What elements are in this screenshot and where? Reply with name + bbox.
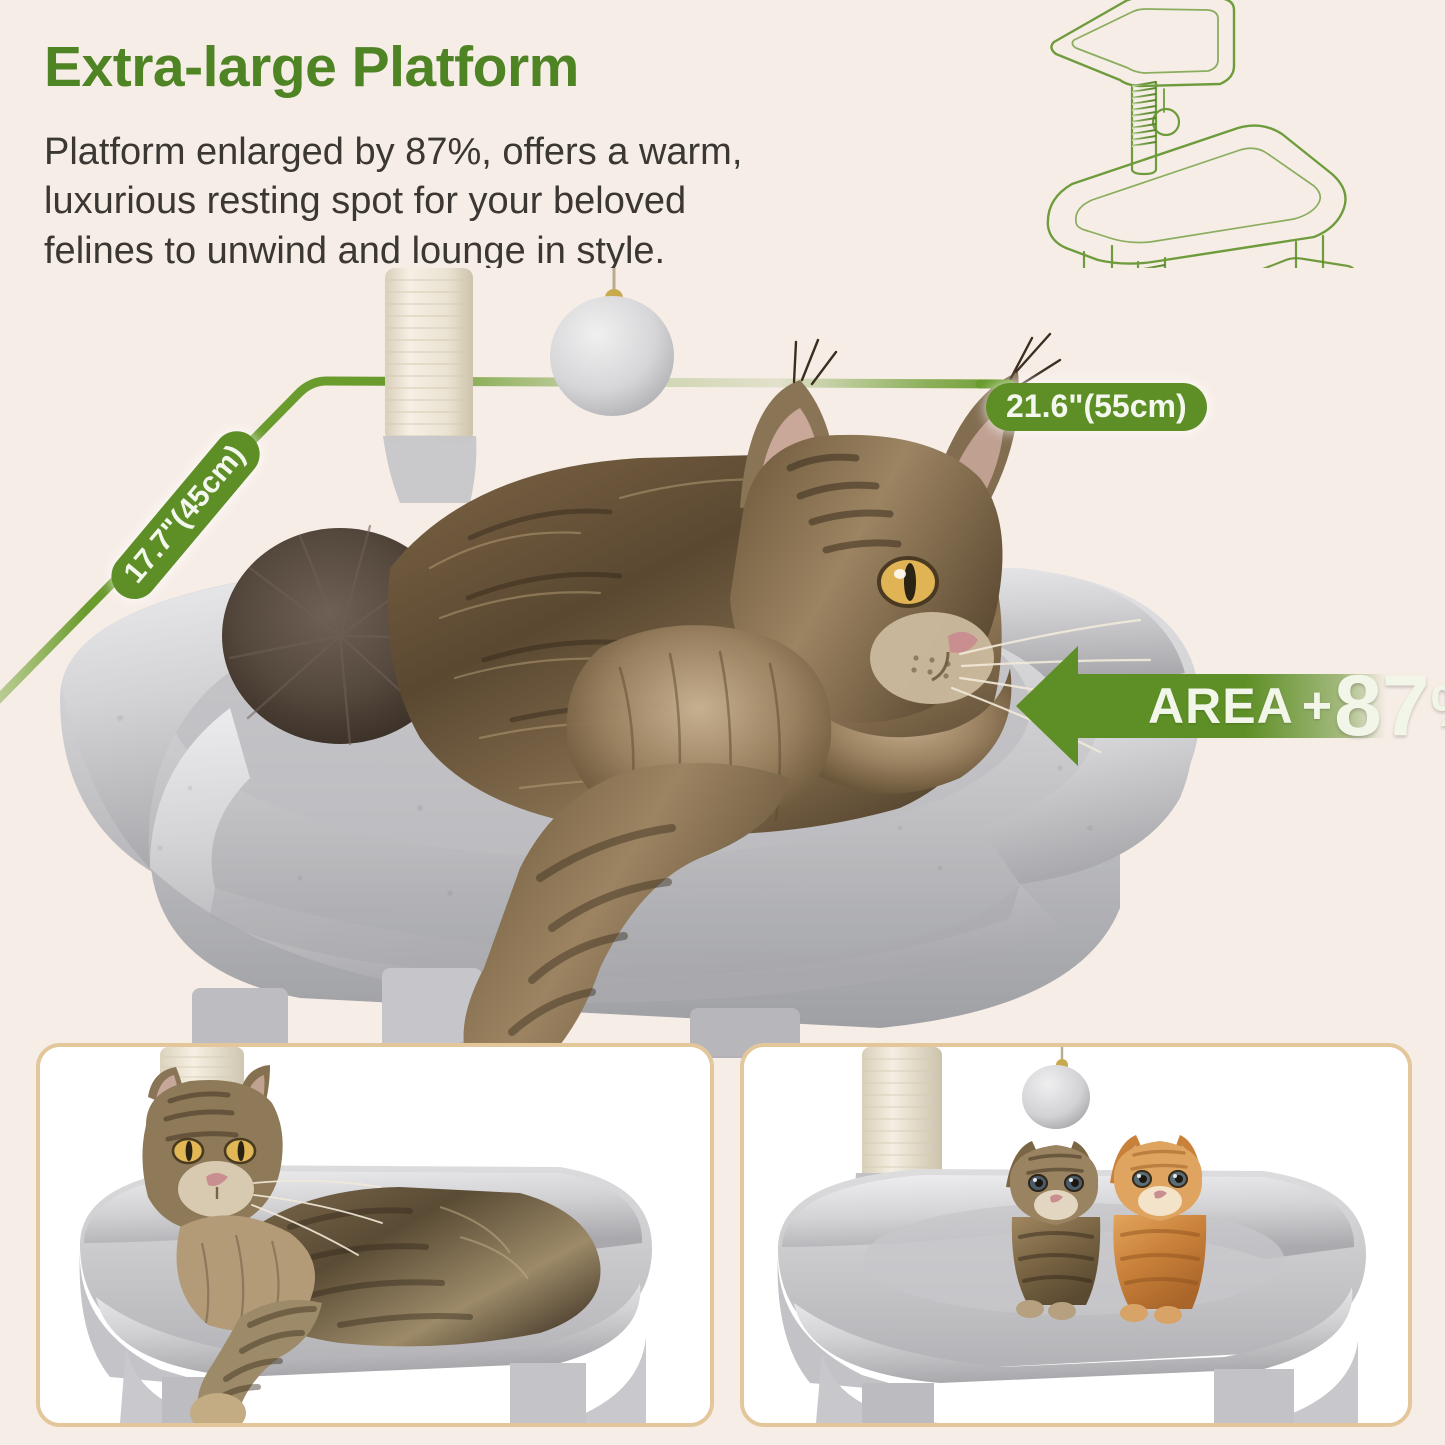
sisal-post-upper bbox=[383, 268, 476, 503]
description-line-1: Platform enlarged by 87%, offers a warm, bbox=[44, 128, 974, 177]
thumbnail-cat-lounging bbox=[36, 1043, 714, 1427]
area-badge-prefix: AREA bbox=[1148, 677, 1294, 735]
description-text: Platform enlarged by 87%, offers a warm,… bbox=[44, 128, 974, 276]
page-title: Extra-large Platform bbox=[44, 38, 579, 98]
thumbnail-two-kittens bbox=[740, 1043, 1412, 1427]
orange-tabby-kitten bbox=[1110, 1135, 1206, 1324]
marketing-image-canvas: Extra-large Platform Platform enlarged b… bbox=[0, 0, 1445, 1445]
area-badge-percent: % bbox=[1431, 673, 1445, 740]
width-dimension-label: 21.6"(55cm) bbox=[986, 383, 1207, 431]
area-badge-number: 87 bbox=[1334, 672, 1430, 741]
description-line-2: luxurious resting spot for your beloved bbox=[44, 177, 974, 226]
area-increase-badge: AREA + 87 % bbox=[1016, 640, 1386, 772]
area-badge-text: AREA + 87 % bbox=[1148, 640, 1386, 772]
area-badge-plus: + bbox=[1302, 676, 1332, 736]
